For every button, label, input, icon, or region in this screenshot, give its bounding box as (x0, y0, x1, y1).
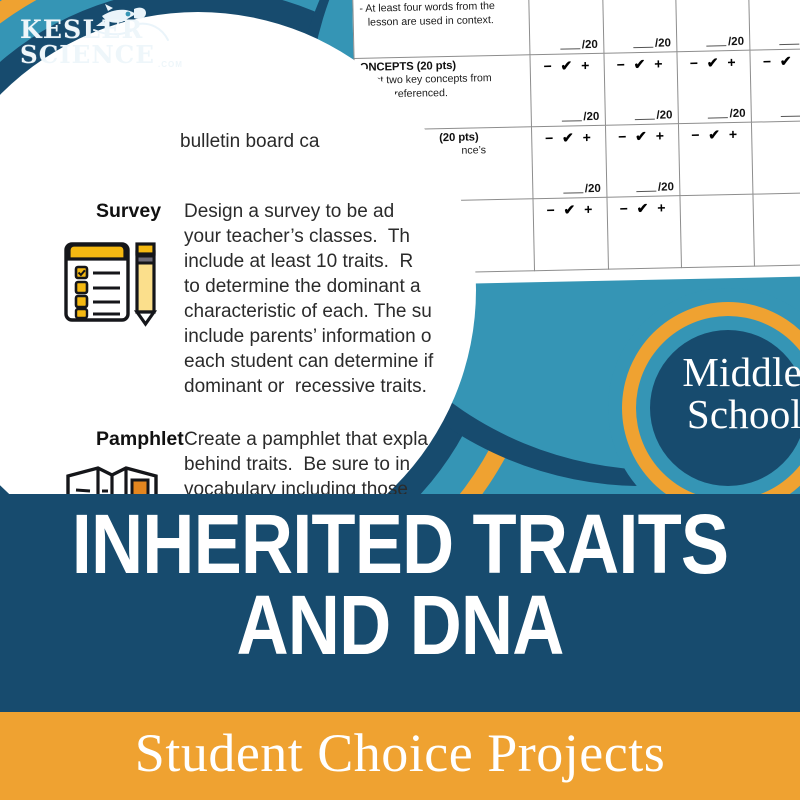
points-blank: /20 (561, 111, 599, 124)
mark-scale[interactable]: − ✔ + (534, 0, 597, 3)
project-option-label: Survey (96, 200, 161, 223)
project-option-body: Create a pamphlet that expla behind trai… (184, 428, 428, 503)
rubric-score-cell[interactable]: − ✔ + /20 (748, 0, 800, 50)
mark-scale[interactable]: − ✔ + (684, 126, 747, 144)
points-blank: /20 (633, 37, 671, 50)
rubric-score-cell[interactable]: − ✔ + /20 (532, 125, 607, 199)
rubric-score-cell[interactable]: − ✔ + /20 (605, 124, 680, 198)
project-option-body: Design a survey to be ad your teacher’s … (184, 200, 433, 400)
page-title: INHERITED TRAITS AND DNA (56, 504, 744, 667)
mark-scale[interactable]: − ✔ + (612, 199, 675, 217)
brand-logo-line2: SCIENCE (20, 43, 155, 67)
cover-image-canvas: VOCABULARY (20 pts) - At least four word… (0, 0, 800, 800)
mark-scale[interactable]: − ✔ + (682, 54, 745, 72)
rubric-score-cell[interactable]: − ✔ + (533, 197, 608, 271)
clipboard-checklist-pencil-icon (58, 234, 162, 328)
points-blank: /20 (779, 34, 800, 47)
brand-logo-wordmark: KESLER SCIENCE (20, 18, 155, 67)
rubric-score-cell[interactable] (753, 193, 800, 267)
points-blank: /20 (636, 181, 674, 194)
project-option-label: Pamphlet (96, 428, 184, 451)
grade-badge-line1: Middle (682, 349, 800, 395)
criterion-description: - At least four words from the lesson ar… (358, 0, 525, 30)
subtitle-banner: Student Choice Projects (0, 712, 800, 800)
mark-scale[interactable]: − ✔ + (537, 129, 600, 147)
points-blank: /20 (781, 106, 800, 119)
rubric-score-cell[interactable]: − ✔ + /20 (530, 53, 605, 127)
project-description-document: bulletin board ca Survey (96, 118, 526, 518)
rubric-score-cell[interactable]: − ✔ + (678, 122, 753, 196)
criterion-desc-line: lesson are used in context. (360, 13, 526, 30)
title-banner: INHERITED TRAITS AND DNA (0, 494, 800, 712)
partial-text-line: bulletin board ca (180, 130, 319, 155)
page-title-line1: INHERITED TRAITS (56, 504, 744, 585)
page-title-line2: AND DNA (56, 585, 744, 666)
rubric-score-cell[interactable]: − ✔ + /20 (750, 49, 800, 123)
mark-scale[interactable]: − ✔ + (611, 127, 674, 145)
rubric-score-cell[interactable]: − ✔ + /20 (677, 50, 752, 124)
rubric-score-cell[interactable]: − ✔ + /20 (675, 0, 750, 52)
points-blank: /20 (706, 36, 744, 49)
mark-scale[interactable]: − ✔ + (539, 201, 602, 219)
grade-badge-label: Middle School (612, 352, 800, 436)
points-blank: /20 (634, 109, 672, 122)
mark-scale[interactable]: − ✔ + (608, 0, 671, 2)
points-blank: /20 (560, 39, 598, 52)
rubric-score-cell[interactable]: − ✔ + (606, 196, 681, 270)
rubric-score-cell[interactable]: − ✔ + /20 (529, 0, 604, 55)
grade-badge-line2: School (612, 394, 800, 436)
mark-scale[interactable]: − ✔ + (609, 55, 672, 73)
rubric-score-cell[interactable] (680, 194, 755, 268)
rubric-score-cell[interactable]: − ✔ + /20 (603, 52, 678, 126)
rubric-score-cell[interactable] (751, 121, 800, 195)
page-subtitle: Student Choice Projects (0, 726, 800, 780)
brand-logo-domain: .COM (158, 60, 183, 69)
points-blank: /20 (563, 183, 601, 196)
rubric-score-cell[interactable]: − ✔ + /20 (602, 0, 677, 53)
rubric-criterion-cell: VOCABULARY (20 pts) - At least four word… (353, 0, 531, 58)
mark-scale[interactable]: − ✔ + (755, 52, 800, 70)
brand-logo[interactable]: KESLER SCIENCE .COM (8, 2, 194, 76)
points-blank: /20 (707, 108, 745, 121)
mark-scale[interactable]: − ✔ + (536, 57, 599, 75)
